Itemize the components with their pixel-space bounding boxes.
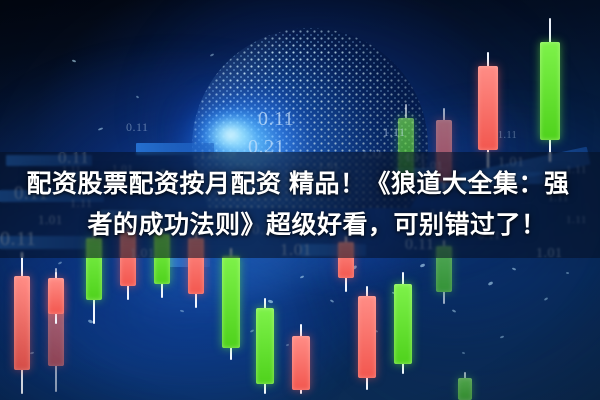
candlestick-body xyxy=(394,284,412,364)
candlestick-down xyxy=(48,272,64,324)
particle xyxy=(72,59,76,62)
particle xyxy=(462,352,466,355)
candlestick-body xyxy=(292,336,310,390)
particle xyxy=(544,297,548,301)
candlestick-down xyxy=(292,324,310,394)
candlestick-up xyxy=(458,372,472,400)
candlestick-down xyxy=(358,286,376,390)
candlestick-up xyxy=(222,248,240,360)
price-number: 0.11 xyxy=(258,108,294,131)
candlestick-body xyxy=(458,378,472,400)
candlestick-down xyxy=(478,52,498,168)
particle xyxy=(566,272,569,275)
particle xyxy=(58,261,62,265)
particle xyxy=(330,299,334,303)
particle xyxy=(98,127,103,130)
particle xyxy=(500,335,504,338)
particle xyxy=(30,352,34,355)
particle xyxy=(452,309,456,313)
candlestick-body xyxy=(14,276,30,370)
particle xyxy=(136,95,140,98)
particle xyxy=(250,329,254,333)
banner-image: 0.110.211.111.111.110.110.110.111.011.11… xyxy=(0,0,600,400)
candlestick-body xyxy=(256,308,274,384)
particle xyxy=(512,267,516,271)
candlestick-up xyxy=(256,298,274,394)
candlestick-up xyxy=(394,272,412,374)
candlestick-body xyxy=(48,278,64,314)
price-number: 0.11 xyxy=(126,120,149,135)
caption-band xyxy=(0,152,600,258)
candlestick-body xyxy=(478,66,498,150)
particle xyxy=(180,309,184,312)
price-number: 1.11 xyxy=(383,125,406,140)
particle xyxy=(488,281,494,286)
particle xyxy=(286,344,289,347)
candlestick-body xyxy=(222,256,240,348)
candlestick-body xyxy=(358,296,376,378)
candlestick-down xyxy=(14,252,30,394)
price-number: 1.11 xyxy=(498,130,517,141)
candlestick-up xyxy=(540,18,560,162)
candlestick-body xyxy=(540,42,560,140)
